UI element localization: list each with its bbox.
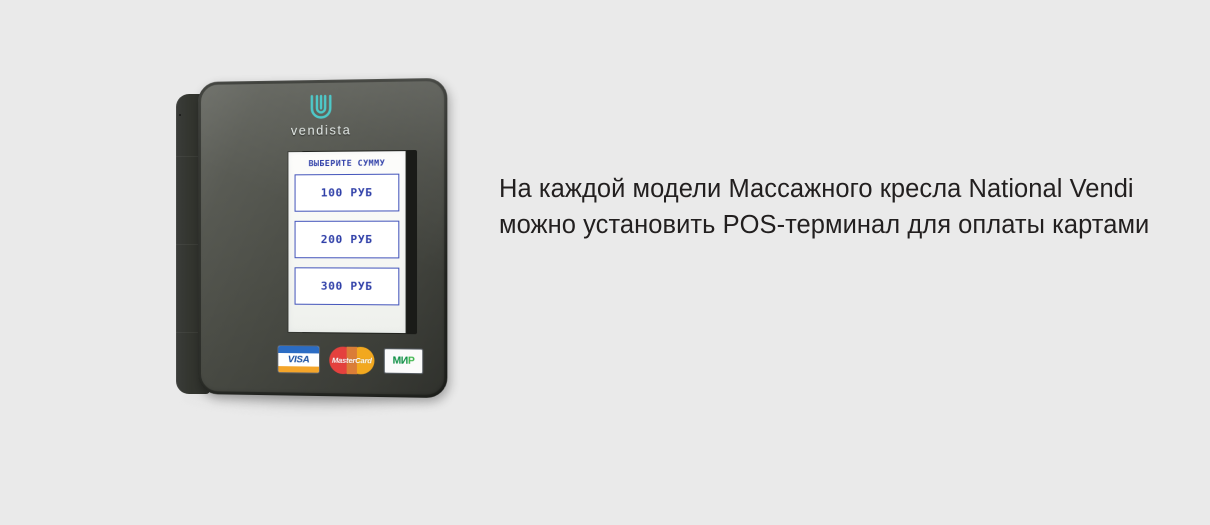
amount-button-100[interactable]: 100 РУБ [295, 174, 400, 212]
pos-terminal-image: vendista ВЫБЕРИТЕ СУММУ 100 РУБ 200 РУБ … [176, 82, 456, 412]
amount-button-label: 100 РУБ [321, 186, 373, 199]
amount-button-200[interactable]: 200 РУБ [295, 221, 400, 259]
slide-canvas: vendista ВЫБЕРИТЕ СУММУ 100 РУБ 200 РУБ … [0, 0, 1210, 525]
brand-name-label: vendista [198, 122, 447, 139]
mir-logo-flag-label: Р [408, 355, 415, 366]
vendista-shield-icon [309, 94, 334, 121]
mir-logo-icon: МИР [385, 349, 422, 373]
brand-block: vendista [198, 92, 447, 139]
mastercard-logo-label: MasterCard [332, 355, 372, 365]
device-front-face: vendista ВЫБЕРИТЕ СУММУ 100 РУБ 200 РУБ … [198, 78, 447, 398]
caption-text: На каждой модели Массажного кресла Natio… [499, 171, 1179, 243]
visa-logo-icon: VISA [278, 346, 319, 373]
payment-logos-row: VISA MasterCard МИР [278, 345, 422, 375]
amount-button-label: 300 РУБ [321, 280, 373, 293]
amount-button-300[interactable]: 300 РУБ [295, 267, 400, 305]
mir-logo-label: МИ [393, 355, 408, 366]
mastercard-logo-icon: MasterCard [329, 346, 374, 374]
terminal-screen[interactable]: ВЫБЕРИТЕ СУММУ 100 РУБ 200 РУБ 300 РУБ [288, 151, 405, 333]
amount-button-label: 200 РУБ [321, 233, 373, 246]
visa-logo-label: VISA [288, 354, 310, 365]
screen-title: ВЫБЕРИТЕ СУММУ [295, 157, 400, 168]
